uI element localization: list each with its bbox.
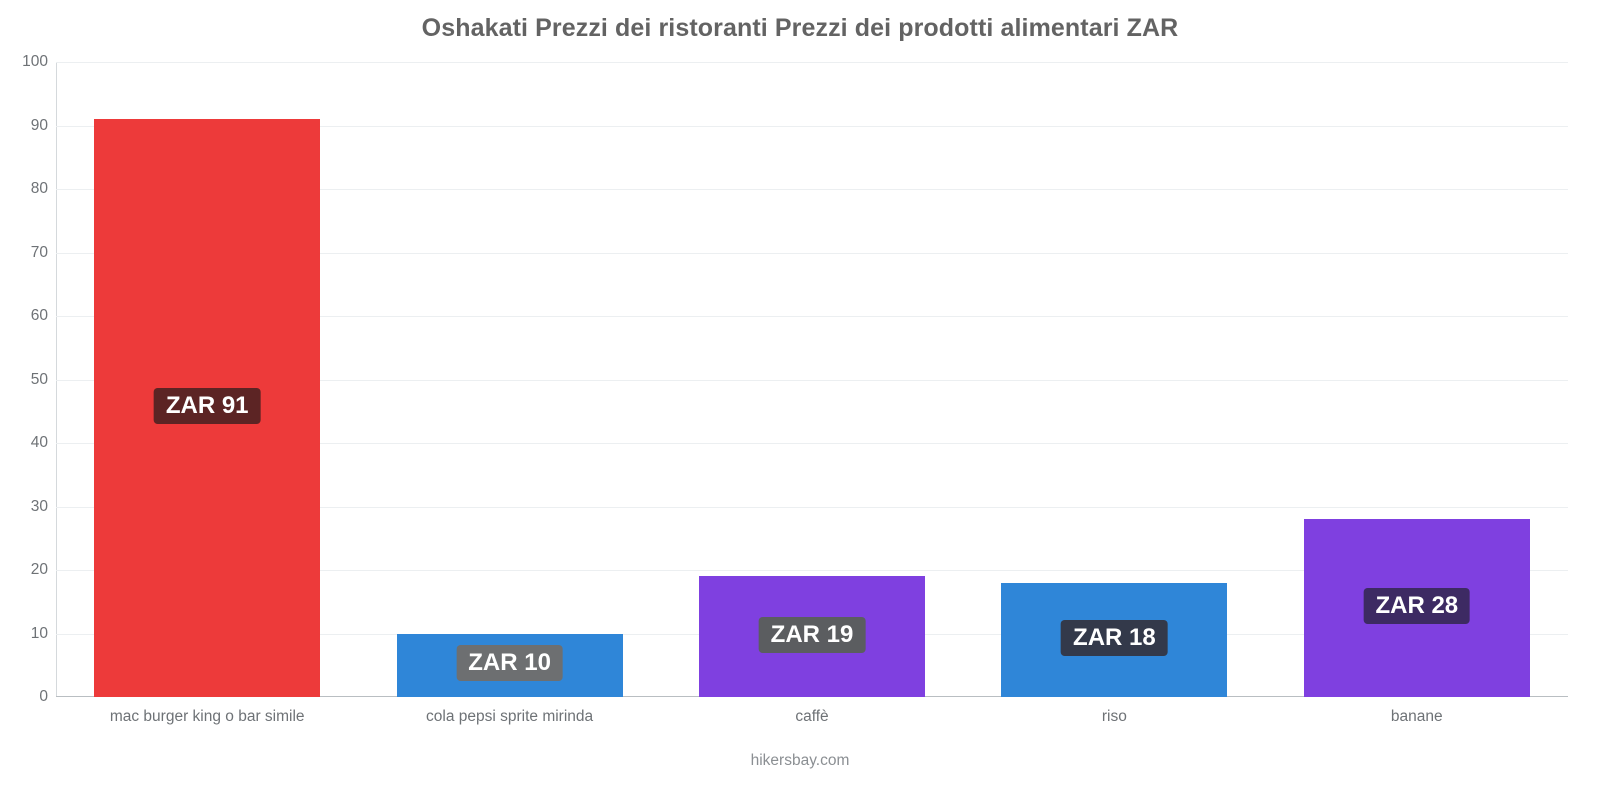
y-axis-tick-label: 50 [10, 371, 48, 389]
bar[interactable]: ZAR 18 [1001, 583, 1227, 697]
bar[interactable]: ZAR 28 [1304, 519, 1530, 697]
gridline [56, 62, 1568, 63]
bar-value-label: ZAR 28 [1363, 588, 1470, 624]
chart-title: Oshakati Prezzi dei ristoranti Prezzi de… [0, 14, 1600, 43]
y-axis-tick-label: 0 [10, 688, 48, 706]
bar-value-label: ZAR 19 [759, 617, 866, 653]
y-axis-tick-label: 80 [10, 180, 48, 198]
y-axis-tick-label: 100 [10, 53, 48, 71]
footer-source: hikersbay.com [0, 752, 1600, 770]
bar-value-label: ZAR 10 [456, 645, 563, 681]
y-axis-tick-label: 40 [10, 434, 48, 452]
bar[interactable]: ZAR 19 [699, 576, 925, 697]
x-axis-tick-label: mac burger king o bar simile [56, 708, 358, 726]
bar-value-label: ZAR 18 [1061, 620, 1168, 656]
x-axis-tick-label: riso [963, 708, 1265, 726]
y-axis-tick-label: 60 [10, 307, 48, 325]
bar-value-label: ZAR 91 [154, 388, 261, 424]
y-axis-tick-label: 10 [10, 625, 48, 643]
chart-container: Oshakati Prezzi dei ristoranti Prezzi de… [0, 0, 1600, 800]
x-axis-tick-label: banane [1266, 708, 1568, 726]
bar[interactable]: ZAR 91 [94, 119, 320, 697]
y-axis-tick-label: 70 [10, 244, 48, 262]
plot-area: 0102030405060708090100 ZAR 91ZAR 10ZAR 1… [56, 62, 1568, 697]
y-axis-tick-label: 30 [10, 498, 48, 516]
x-axis-tick-label: cola pepsi sprite mirinda [358, 708, 660, 726]
x-axis-tick-label: caffè [661, 708, 963, 726]
bar[interactable]: ZAR 10 [397, 634, 623, 698]
y-axis-tick-label: 90 [10, 117, 48, 135]
y-axis-tick-label: 20 [10, 561, 48, 579]
